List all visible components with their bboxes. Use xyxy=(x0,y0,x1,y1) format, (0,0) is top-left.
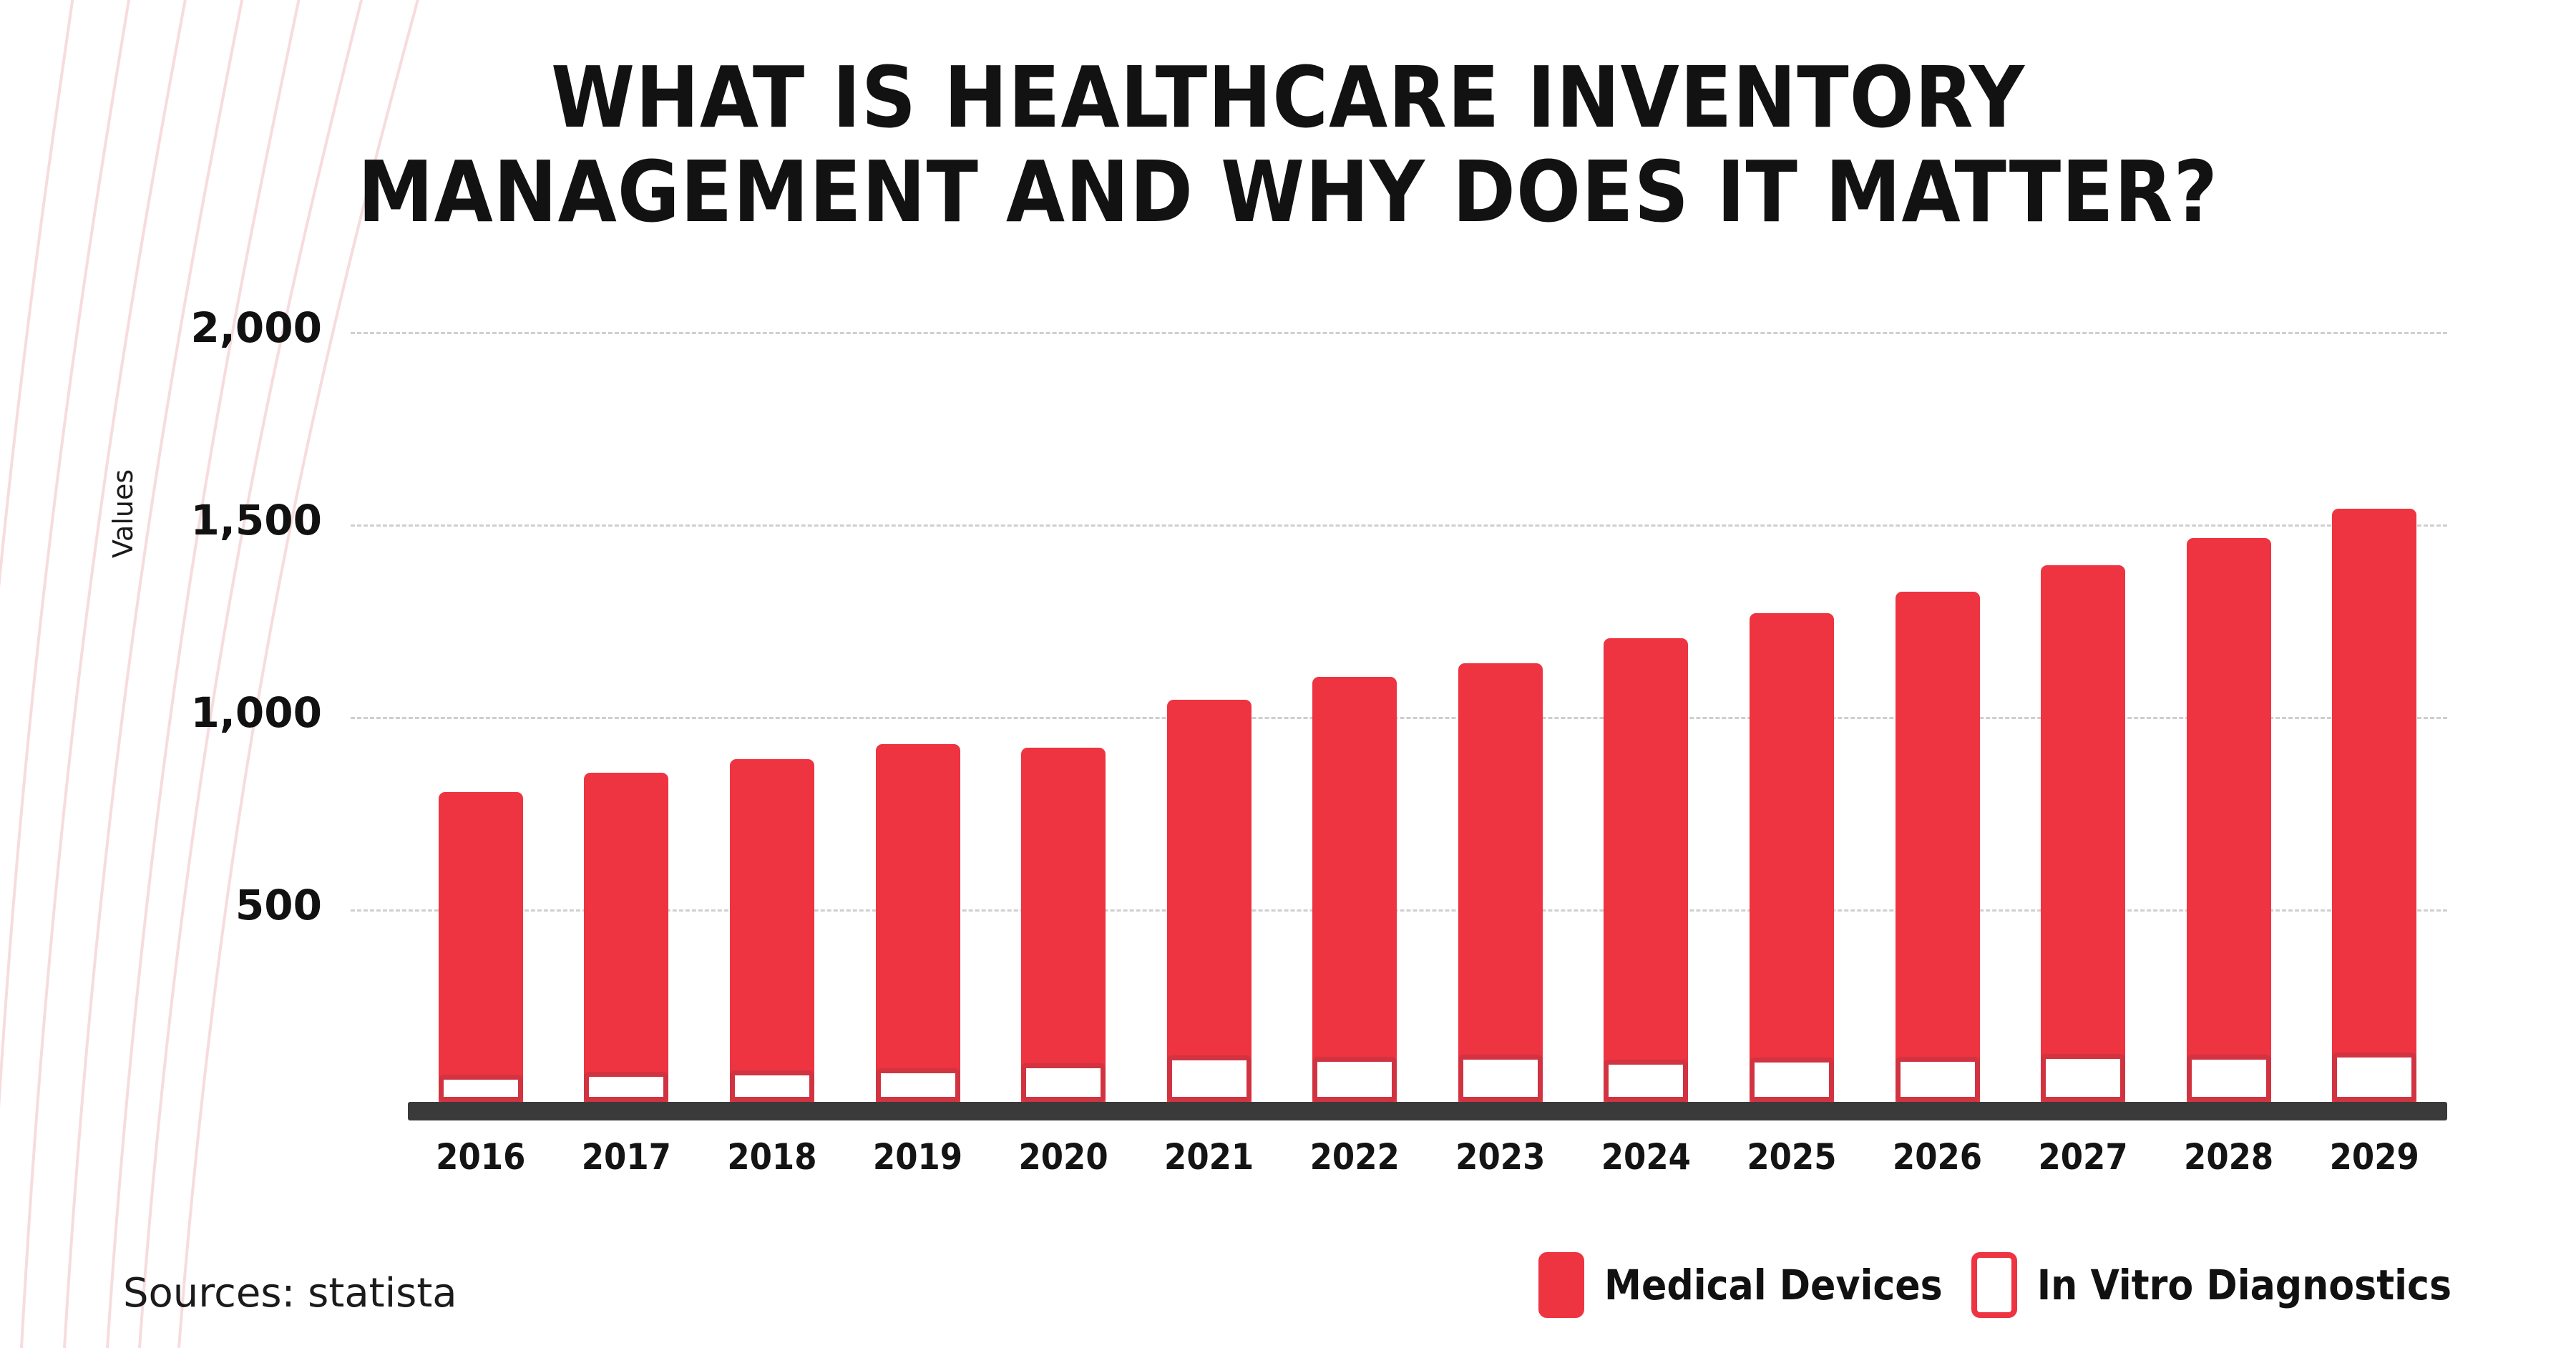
x-axis-tick-label: 2023 xyxy=(1429,1136,1572,1178)
bar-group[interactable] xyxy=(1750,613,1834,1102)
bar-group[interactable] xyxy=(2187,538,2271,1102)
bar-segment-medical-devices[interactable] xyxy=(2187,538,2271,1102)
x-axis-tick-label: 2019 xyxy=(847,1136,990,1178)
bar-group[interactable] xyxy=(1458,663,1543,1102)
legend-swatch-filled xyxy=(1538,1252,1584,1318)
x-axis-baseline xyxy=(408,1102,2447,1120)
bar-segment-medical-devices[interactable] xyxy=(584,773,668,1102)
y-axis-tick-label: 1,500 xyxy=(114,496,322,544)
bar-segment-in-vitro-diagnostics[interactable] xyxy=(2187,1055,2271,1102)
chart-plot-area: 5001,0001,5002,000 Values 20162017201820… xyxy=(0,0,2576,1348)
bar-group[interactable] xyxy=(1021,748,1106,1102)
x-axis-tick-label: 2022 xyxy=(1283,1136,1426,1178)
bar-segment-medical-devices[interactable] xyxy=(876,744,960,1102)
bar-segment-in-vitro-diagnostics[interactable] xyxy=(584,1072,668,1102)
legend-label: In Vitro Diagnostics xyxy=(2037,1261,2451,1309)
x-axis-tick-label: 2026 xyxy=(1866,1136,2009,1178)
bar-group[interactable] xyxy=(1604,638,1688,1102)
bar-segment-in-vitro-diagnostics[interactable] xyxy=(1604,1060,1688,1102)
bar-segment-medical-devices[interactable] xyxy=(2332,509,2416,1102)
x-axis-tick-label: 2020 xyxy=(992,1136,1135,1178)
bar-segment-medical-devices[interactable] xyxy=(1750,613,1834,1102)
legend-swatch-outlined xyxy=(1971,1252,2017,1318)
gridline xyxy=(351,717,2447,719)
bar-segment-in-vitro-diagnostics[interactable] xyxy=(439,1075,523,1102)
bar-group[interactable] xyxy=(730,759,814,1102)
y-axis-tick-label: 500 xyxy=(114,881,322,929)
bar-group[interactable] xyxy=(2041,565,2125,1103)
y-axis-title: Values xyxy=(107,469,139,558)
bar-group[interactable] xyxy=(1167,700,1252,1102)
x-axis-tick-label: 2027 xyxy=(2011,1136,2155,1178)
bar-segment-in-vitro-diagnostics[interactable] xyxy=(1167,1055,1252,1102)
y-axis-tick-label: 2,000 xyxy=(114,303,322,352)
bar-segment-medical-devices[interactable] xyxy=(730,759,814,1102)
bar-segment-in-vitro-diagnostics[interactable] xyxy=(730,1070,814,1102)
gridline xyxy=(351,524,2447,527)
bar-segment-in-vitro-diagnostics[interactable] xyxy=(1021,1063,1106,1102)
x-axis-tick-label: 2018 xyxy=(701,1136,844,1178)
bar-segment-medical-devices[interactable] xyxy=(439,792,523,1102)
bar-segment-in-vitro-diagnostics[interactable] xyxy=(2332,1052,2416,1102)
source-note: Sources: statista xyxy=(123,1270,457,1317)
bar-segment-in-vitro-diagnostics[interactable] xyxy=(1458,1055,1543,1102)
bar-segment-in-vitro-diagnostics[interactable] xyxy=(1312,1057,1397,1102)
bar-group[interactable] xyxy=(584,773,668,1102)
bar-segment-in-vitro-diagnostics[interactable] xyxy=(2041,1054,2125,1102)
legend-item[interactable]: Medical Devices xyxy=(1538,1252,1943,1318)
bar-group[interactable] xyxy=(2332,509,2416,1102)
bar-group[interactable] xyxy=(439,792,523,1102)
bar-segment-in-vitro-diagnostics[interactable] xyxy=(1896,1057,1980,1102)
x-axis-tick-label: 2024 xyxy=(1574,1136,1717,1178)
x-axis-tick-label: 2017 xyxy=(555,1136,698,1178)
y-axis-tick-label: 1,000 xyxy=(114,688,322,737)
x-axis-tick-label: 2025 xyxy=(1720,1136,1863,1178)
x-axis-tick-label: 2029 xyxy=(2303,1136,2446,1178)
x-axis-tick-label: 2021 xyxy=(1138,1136,1281,1178)
x-axis-tick-label: 2016 xyxy=(409,1136,552,1178)
legend-label: Medical Devices xyxy=(1604,1261,1943,1309)
bar-segment-medical-devices[interactable] xyxy=(1604,638,1688,1102)
x-axis-tick-label: 2028 xyxy=(2157,1136,2301,1178)
bar-segment-medical-devices[interactable] xyxy=(1458,663,1543,1102)
bar-group[interactable] xyxy=(1312,677,1397,1102)
bar-segment-medical-devices[interactable] xyxy=(1896,592,1980,1102)
gridline xyxy=(351,332,2447,334)
bar-segment-medical-devices[interactable] xyxy=(1167,700,1252,1102)
bar-segment-in-vitro-diagnostics[interactable] xyxy=(876,1068,960,1102)
legend-item[interactable]: In Vitro Diagnostics xyxy=(1971,1252,2451,1318)
bar-segment-medical-devices[interactable] xyxy=(1021,748,1106,1102)
bar-group[interactable] xyxy=(1896,592,1980,1102)
bar-segment-in-vitro-diagnostics[interactable] xyxy=(1750,1058,1834,1102)
bar-segment-medical-devices[interactable] xyxy=(1312,677,1397,1102)
bar-segment-medical-devices[interactable] xyxy=(2041,565,2125,1103)
chart-legend: Medical DevicesIn Vitro Diagnostics xyxy=(1538,1252,2451,1318)
bar-group[interactable] xyxy=(876,744,960,1102)
